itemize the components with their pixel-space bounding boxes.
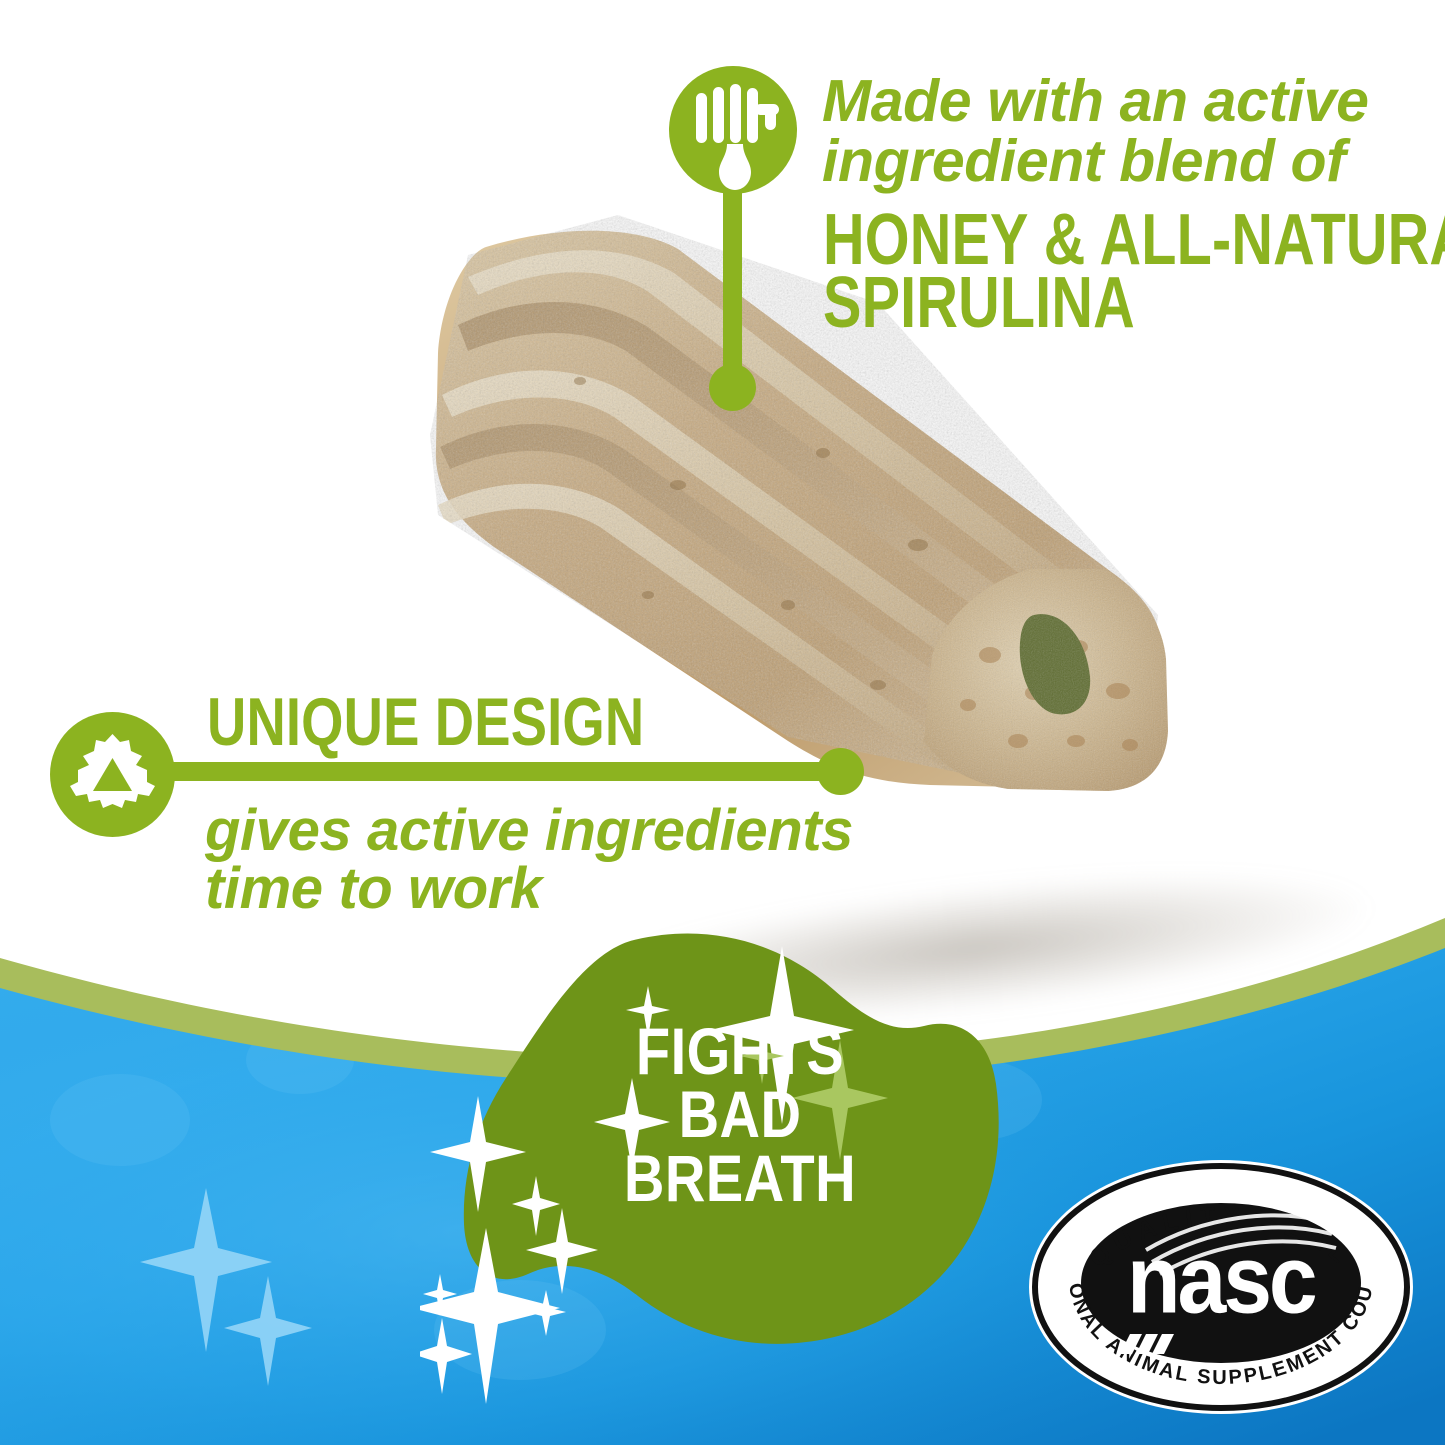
honey-intro-line1: Made with an active <box>822 70 1369 133</box>
sparkle-cluster-white <box>420 1060 720 1420</box>
unique-design-sub-line2: time to work <box>205 858 542 919</box>
honey-callout-endpoint-dot <box>709 364 756 411</box>
nasc-quality-seal: QUALITY SEAL NATIONAL ANIMAL SUPPLEMENT … <box>1026 1158 1416 1416</box>
unique-design-callout-stem <box>150 762 850 781</box>
product-feature-graphic: Made with an active ingredient blend of … <box>0 0 1445 1445</box>
unique-design-sub-line1: gives active ingredients <box>205 800 853 861</box>
seal-wordmark: nasc <box>1127 1226 1316 1334</box>
unique-design-headline: UNIQUE DESIGN <box>207 689 644 756</box>
honey-dipper-icon <box>669 66 797 194</box>
unique-design-endpoint-dot <box>817 748 864 795</box>
honey-intro-line2: ingredient blend of <box>822 130 1345 193</box>
triangular-chew-icon <box>50 712 175 837</box>
honey-headline-line2: SPIRULINA <box>823 268 1135 339</box>
